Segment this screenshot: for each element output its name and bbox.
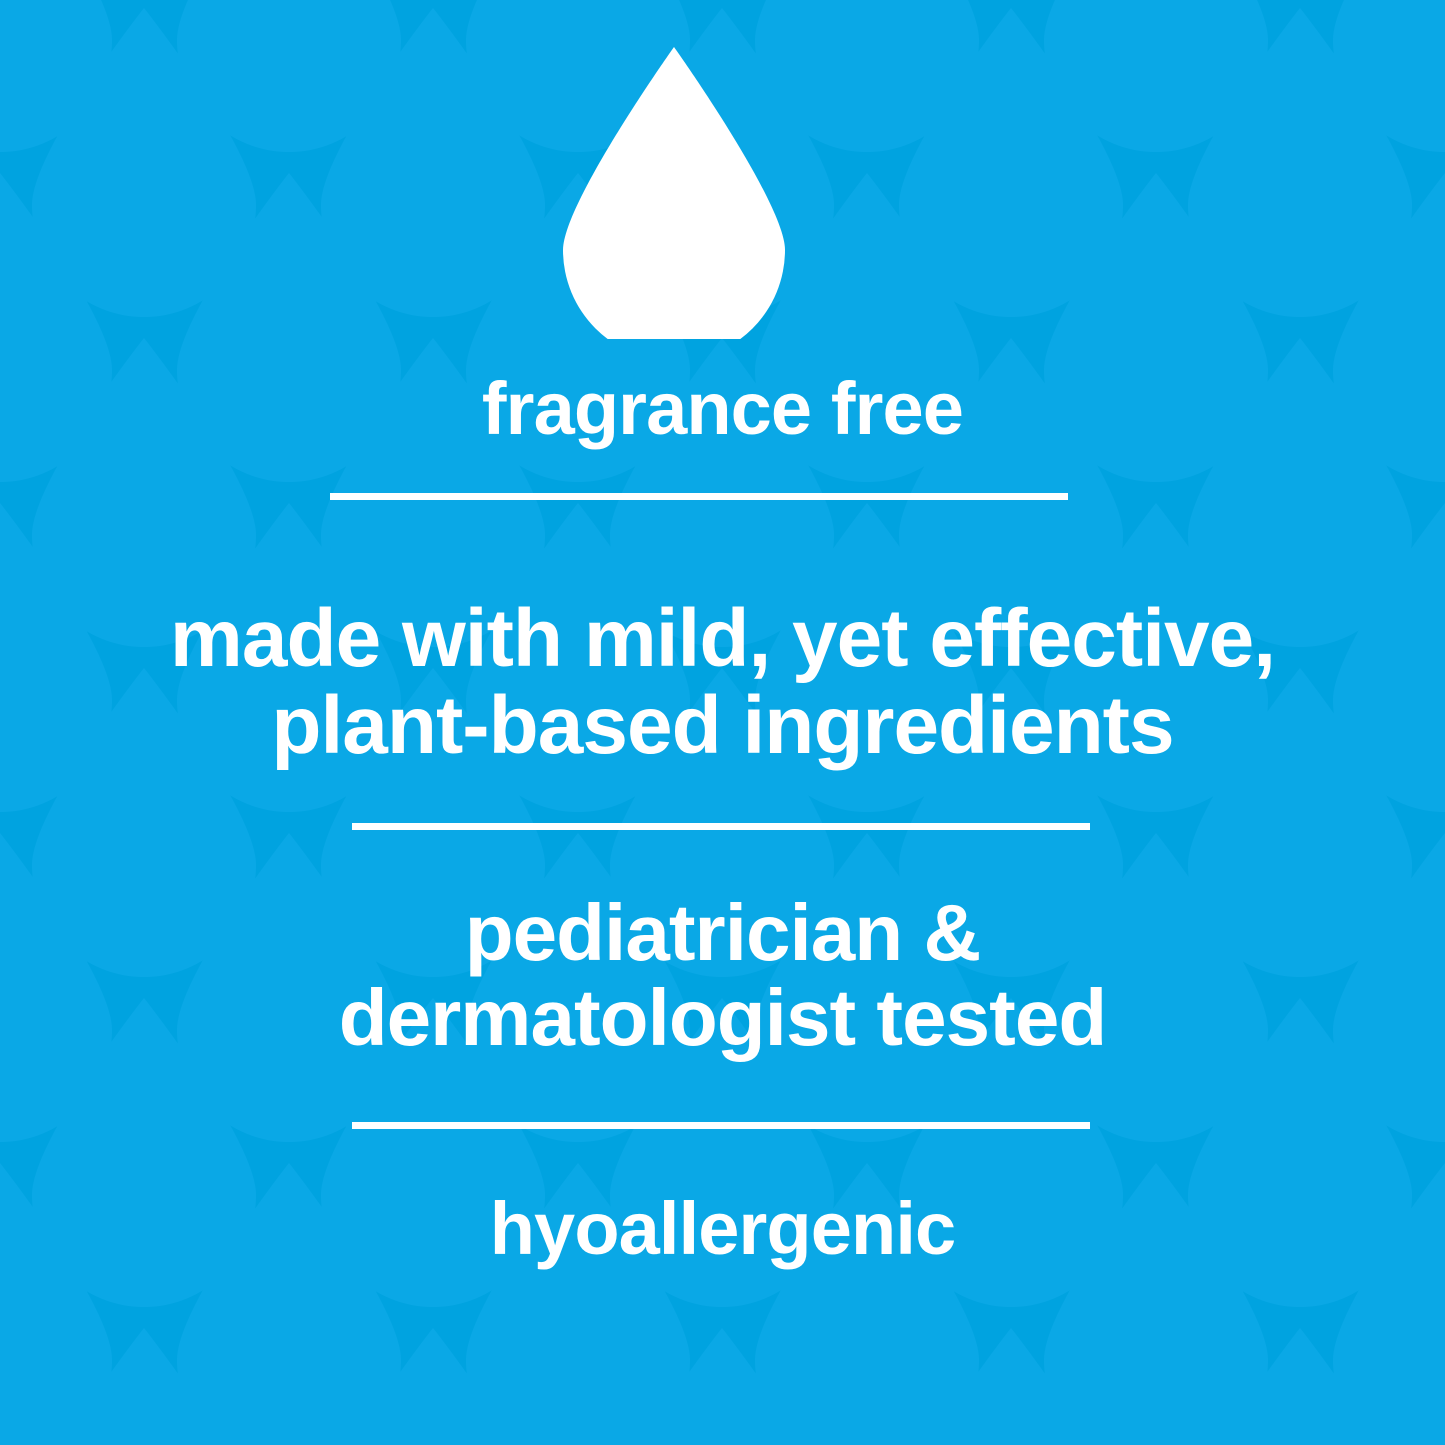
claim-pediatrician-tested: pediatrician & dermatologist tested [0, 891, 1445, 1061]
divider-3 [352, 1122, 1090, 1129]
claim-fragrance-free: fragrance free [0, 370, 1445, 448]
claim-plant-based: made with mild, yet effective, plant-bas… [0, 596, 1445, 770]
divider-2 [352, 823, 1090, 830]
product-claims-card: fragrance free made with mild, yet effec… [0, 0, 1445, 1445]
claim-hypoallergenic: hyoallergenic [0, 1190, 1445, 1268]
divider-1 [330, 493, 1068, 500]
water-droplet-icon [563, 44, 785, 339]
